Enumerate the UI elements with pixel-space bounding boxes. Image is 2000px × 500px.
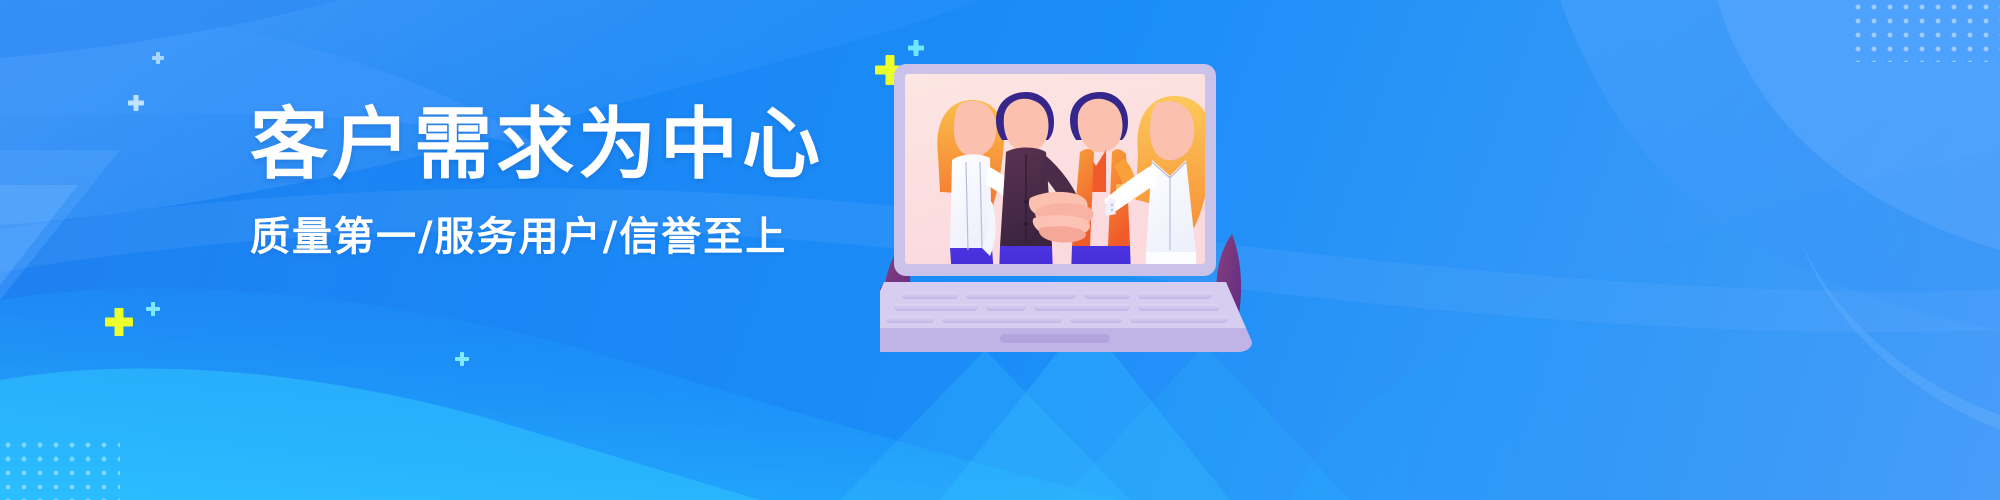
plus-white-top-icon	[152, 52, 164, 64]
plus-yellow-bottom-icon	[105, 308, 133, 336]
laptop-base	[880, 282, 1252, 352]
dot-grid-top-right	[1850, 0, 2000, 62]
text-block: 客户需求为中心 质量第一/服务用户/信誉至上	[250, 105, 870, 262]
page-title: 客户需求为中心	[250, 105, 870, 186]
trackpad	[1000, 334, 1110, 343]
plus-white-left-icon	[128, 95, 144, 111]
dot-grid-bottom-left	[0, 438, 120, 500]
page-subtitle: 质量第一/服务用户/信誉至上	[250, 204, 870, 262]
plus-cyan-bottom-icon	[146, 302, 160, 316]
laptop-team-illustration	[880, 42, 1300, 362]
plus-cyan-far-icon	[455, 352, 469, 366]
promotional-banner: 客户需求为中心 质量第一/服务用户/信誉至上	[0, 0, 2000, 500]
